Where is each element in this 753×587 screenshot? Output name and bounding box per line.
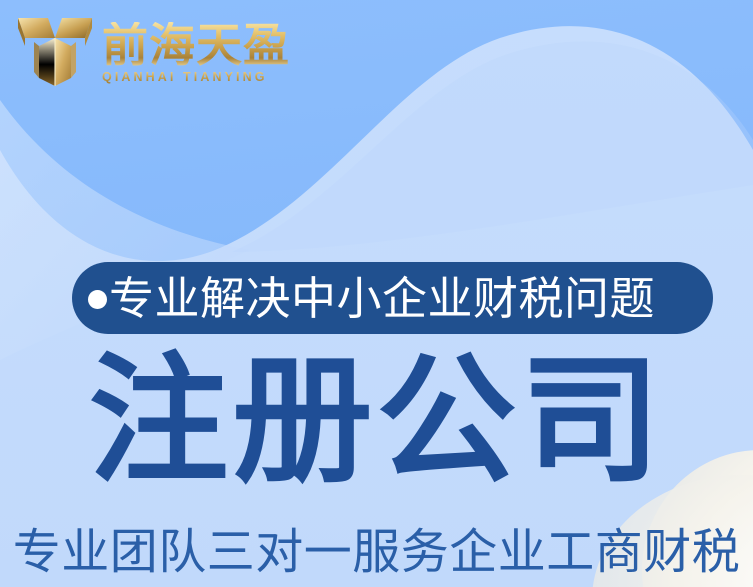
logo-wordmark: 前海天盈 QIANHAI TIANYING bbox=[102, 18, 290, 85]
qianhai-tianying-trident-logo-icon bbox=[14, 8, 96, 94]
logo-company-name-en: QIANHAI TIANYING bbox=[102, 70, 290, 84]
logo-company-name-cn: 前海天盈 bbox=[102, 22, 290, 69]
headline-pill-banner: 专业解决中小企业财税问题 bbox=[72, 262, 713, 334]
bullet-dot-icon bbox=[88, 290, 107, 309]
headline-pill-text: 专业解决中小企业财税问题 bbox=[109, 276, 655, 321]
promo-poster: 前海天盈 QIANHAI TIANYING 专业解决中小企业财税问题 注册公司 … bbox=[0, 0, 753, 587]
page-title: 注册公司 bbox=[0, 352, 753, 492]
brand-logo[interactable]: 前海天盈 QIANHAI TIANYING bbox=[14, 8, 290, 94]
footer-tagline: 专业团队三对一服务企业工商财税 bbox=[0, 524, 753, 581]
